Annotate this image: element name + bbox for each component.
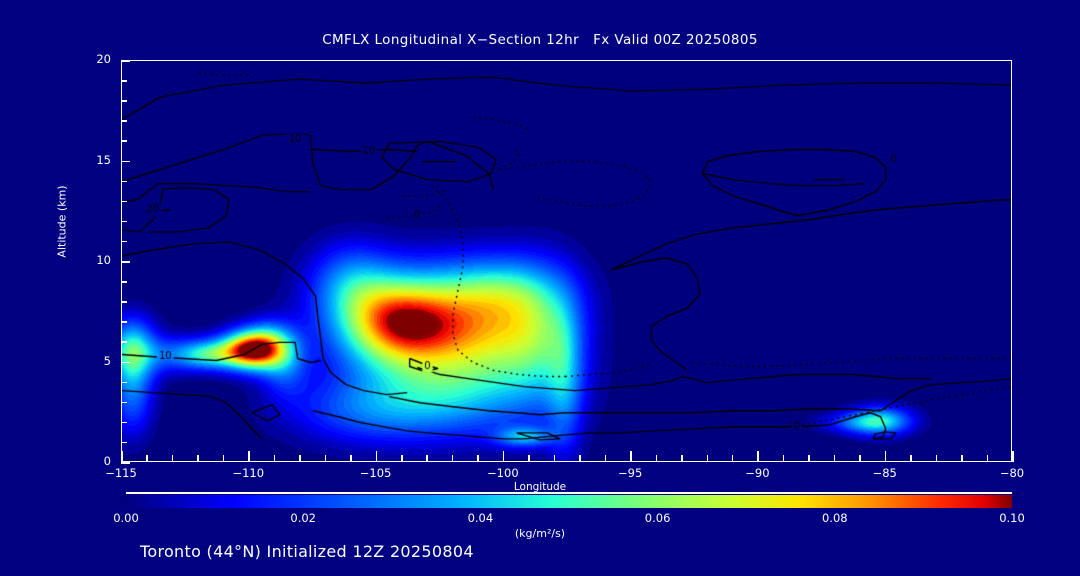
y-tick-label: 10 xyxy=(53,253,111,267)
x-tick-mark xyxy=(757,451,759,462)
colorbar-tick-label: 0.06 xyxy=(623,511,693,525)
x-tick-mark xyxy=(554,455,556,462)
y-tick-mark xyxy=(121,241,127,243)
y-tick-mark xyxy=(121,341,127,343)
x-tick-mark xyxy=(936,455,938,462)
colorbar-tick-label: 0.02 xyxy=(268,511,338,525)
x-tick-label: −100 xyxy=(473,466,533,480)
y-tick-mark xyxy=(121,402,127,404)
x-tick-label: −105 xyxy=(346,466,406,480)
x-tick-mark xyxy=(223,455,225,462)
x-tick-label: −85 xyxy=(855,466,915,480)
y-tick-mark xyxy=(121,80,127,82)
colorbar-tick-label: 0.10 xyxy=(977,511,1047,525)
x-tick-mark xyxy=(808,455,810,462)
y-tick-mark xyxy=(121,181,127,183)
x-tick-label: −90 xyxy=(727,466,787,480)
y-tick-mark xyxy=(121,120,127,122)
y-tick-mark xyxy=(121,60,130,62)
x-tick-mark xyxy=(910,455,912,462)
y-tick-label: 15 xyxy=(53,153,111,167)
x-tick-mark xyxy=(503,451,505,462)
y-tick-label: 5 xyxy=(53,354,111,368)
x-tick-mark xyxy=(248,451,250,462)
x-tick-mark xyxy=(1012,451,1014,462)
chart-title: CMFLX Longitudinal X−Section 12hr Fx Val… xyxy=(0,32,1080,48)
y-tick-mark xyxy=(121,321,127,323)
y-tick-mark xyxy=(121,382,127,384)
colorbar-units: (kg/m²/s) xyxy=(0,527,1080,540)
contour-line-canvas xyxy=(122,61,1012,462)
y-axis-label: Altitude (km) xyxy=(56,152,69,292)
cmflx-cross-section-figure: CMFLX Longitudinal X−Section 12hr Fx Val… xyxy=(0,0,1080,576)
y-tick-mark xyxy=(121,422,127,424)
colorbar-tick-label: 0.00 xyxy=(91,511,161,525)
x-tick-mark xyxy=(961,455,963,462)
colorbar-topline xyxy=(126,492,1012,494)
y-tick-mark xyxy=(121,462,130,464)
colorbar-gradient xyxy=(126,495,1012,508)
x-tick-label: −110 xyxy=(218,466,278,480)
x-tick-mark xyxy=(325,455,327,462)
x-tick-mark xyxy=(859,455,861,462)
x-tick-label: −95 xyxy=(600,466,660,480)
x-tick-mark xyxy=(656,455,658,462)
figure-footer: Toronto (44°N) Initialized 12Z 20250804 xyxy=(140,542,474,561)
x-tick-mark xyxy=(681,455,683,462)
x-tick-mark xyxy=(452,455,454,462)
colorbar-tick-label: 0.08 xyxy=(800,511,870,525)
x-tick-mark xyxy=(426,455,428,462)
x-tick-mark xyxy=(172,455,174,462)
x-tick-mark xyxy=(197,455,199,462)
x-tick-mark xyxy=(732,455,734,462)
y-tick-mark xyxy=(121,100,127,102)
y-tick-mark xyxy=(121,442,127,444)
x-tick-mark xyxy=(376,451,378,462)
colorbar-tick-label: 0.04 xyxy=(445,511,515,525)
y-tick-mark xyxy=(121,140,127,142)
x-tick-mark xyxy=(987,455,989,462)
x-tick-mark xyxy=(605,455,607,462)
x-tick-mark xyxy=(579,455,581,462)
y-tick-mark xyxy=(121,201,127,203)
y-tick-mark xyxy=(121,301,127,303)
y-tick-mark xyxy=(121,221,127,223)
x-tick-mark xyxy=(401,455,403,462)
x-tick-mark xyxy=(274,455,276,462)
x-tick-label: −115 xyxy=(91,466,151,480)
x-tick-mark xyxy=(528,455,530,462)
y-tick-mark xyxy=(121,281,127,283)
x-tick-mark xyxy=(834,455,836,462)
plot-area[interactable] xyxy=(121,60,1012,462)
y-tick-mark xyxy=(121,362,130,364)
x-tick-mark xyxy=(630,451,632,462)
colorbar[interactable] xyxy=(126,495,1012,508)
x-tick-mark xyxy=(146,455,148,462)
x-tick-mark xyxy=(783,455,785,462)
y-tick-mark xyxy=(121,161,130,163)
y-tick-mark xyxy=(121,261,130,263)
x-tick-mark xyxy=(707,455,709,462)
x-tick-mark xyxy=(477,455,479,462)
x-tick-mark xyxy=(121,451,123,462)
x-tick-mark xyxy=(885,451,887,462)
x-tick-label: −80 xyxy=(982,466,1042,480)
y-tick-label: 20 xyxy=(53,52,111,66)
x-tick-mark xyxy=(299,455,301,462)
x-tick-mark xyxy=(350,455,352,462)
